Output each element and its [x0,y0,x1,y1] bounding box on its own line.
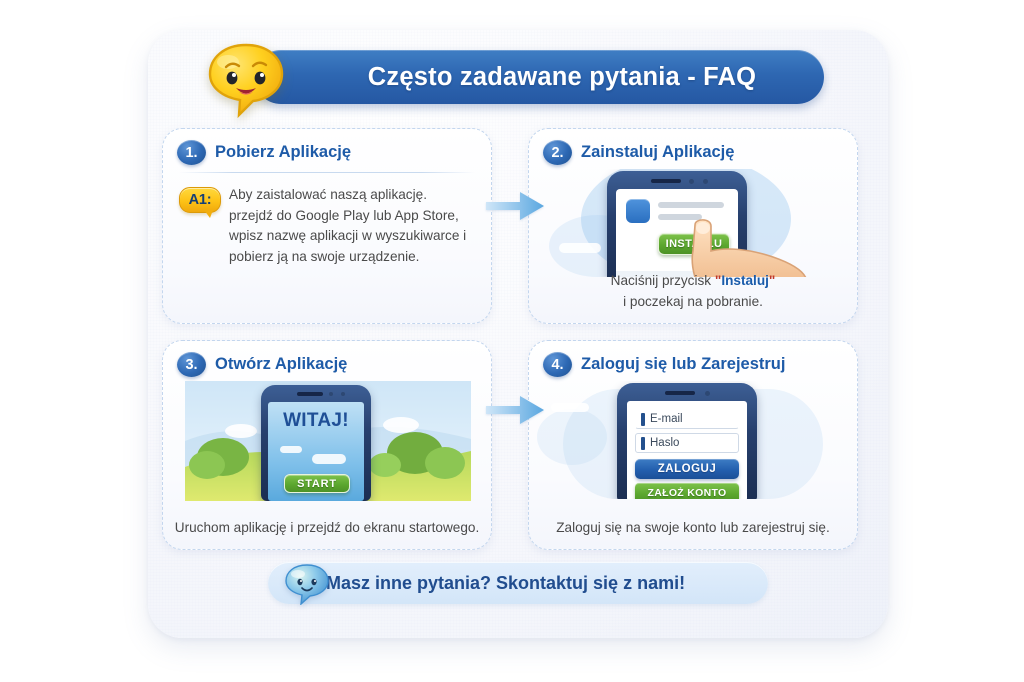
caption-line-1: Naciśnij przycisk "Instaluj" [611,273,776,288]
cloud-shape [551,403,589,412]
card-caption: Zaloguj się na swoje konto lub zarejestr… [539,518,847,538]
camera-dot [341,392,345,396]
phone-screen: E-mail Haslo ZALOGUJ ZAŁOŻ KONTO [627,401,747,499]
caption-line-2: i poczekaj na pobranie. [623,294,763,309]
card-caption: Uruchom aplikację i przejdź do ekranu st… [173,518,481,538]
speaker-grill [297,392,323,396]
phone-frame: WITAJ! START [261,385,371,501]
open-app-illustration: WITAJ! START [163,381,491,501]
header-banner: Często zadawane pytania - FAQ [254,50,824,104]
camera-dot [703,179,708,184]
faq-card-step-3[interactable]: 3. Otwórz Aplikację [162,340,492,550]
card-header: 3. Otwórz Aplikację [163,341,491,377]
yellow-smiling-speech-bubble-icon [206,42,286,118]
register-button[interactable]: ZAŁOŻ KONTO [635,483,739,499]
card-header: 2. Zainstaluj Aplikację [529,129,857,165]
flow-arrow-right-icon [486,388,546,432]
contact-footer-text: Masz inne pytania? Skontaktuj się z nami… [326,573,685,594]
step-number-badge: 2. [543,140,572,165]
start-button[interactable]: START [284,474,350,493]
card-header: 4. Zaloguj się lub Zarejestruj [529,341,857,377]
faq-card-step-4[interactable]: 4. Zaloguj się lub Zarejestruj E-mail Ha… [528,340,858,550]
card-title: Zaloguj się lub Zarejestruj [581,355,785,374]
camera-dot [329,392,333,396]
header: Często zadawane pytania - FAQ [148,48,888,110]
card-title: Pobierz Aplikację [215,143,351,162]
email-field-label: E-mail [650,413,683,425]
login-button-label: ZALOGUJ [658,463,716,475]
login-illustration: E-mail Haslo ZALOGUJ ZAŁOŻ KONTO [529,381,857,499]
cloud-shape [312,454,346,464]
screen-greeting: WITAJ! [268,410,364,432]
faq-card-step-1[interactable]: 1. Pobierz Aplikację A1: Aby zaistalować… [162,128,492,324]
card-title: Zainstaluj Aplikację [581,143,734,162]
placeholder-line [658,202,724,208]
sky-blob [537,409,607,465]
card-caption: Naciśnij przycisk "Instaluj" i poczekaj … [539,271,847,312]
password-field[interactable]: Haslo [635,433,739,453]
login-button[interactable]: ZALOGUJ [635,459,739,479]
flow-arrow-right-icon [486,184,546,228]
answer-badge: A1: [179,187,221,213]
page-title: Często zadawane pytania - FAQ [322,63,756,92]
faq-card-step-2[interactable]: 2. Zainstaluj Aplikację INSTALLU [528,128,858,324]
install-illustration: INSTALLU [529,169,857,277]
answer-badge-label: A1: [189,192,212,208]
card-header: 1. Pobierz Aplikację [163,129,491,165]
password-field-label: Haslo [650,437,679,449]
camera-dot [705,391,710,396]
register-button-label: ZAŁOŻ KONTO [648,487,727,499]
step-number-badge: 4. [543,352,572,377]
speaker-grill [651,179,681,183]
phone-screen: WITAJ! START [268,402,364,501]
card-title: Otwórz Aplikację [215,355,347,374]
text-caret [641,437,645,450]
text-caret [641,413,645,426]
start-button-label: START [297,478,337,490]
contact-footer[interactable]: Masz inne pytania? Skontaktuj się z nami… [268,562,768,604]
email-field[interactable]: E-mail [635,409,739,429]
blue-smiling-speech-bubble-icon [284,563,330,605]
app-icon [626,199,650,223]
step-number-badge: 3. [177,352,206,377]
pointing-hand-icon [687,217,807,277]
cloud-shape [559,243,601,253]
answer-text: Aby zaistalować naszą aplikację. przejdź… [229,185,473,268]
camera-dot [689,179,694,184]
phone-frame: E-mail Haslo ZALOGUJ ZAŁOŻ KONTO [617,383,757,499]
step-number-badge: 1. [177,140,206,165]
cloud-shape [280,446,302,453]
answer-row: A1: Aby zaistalować naszą aplikację. prz… [163,173,491,268]
speaker-grill [665,391,695,395]
